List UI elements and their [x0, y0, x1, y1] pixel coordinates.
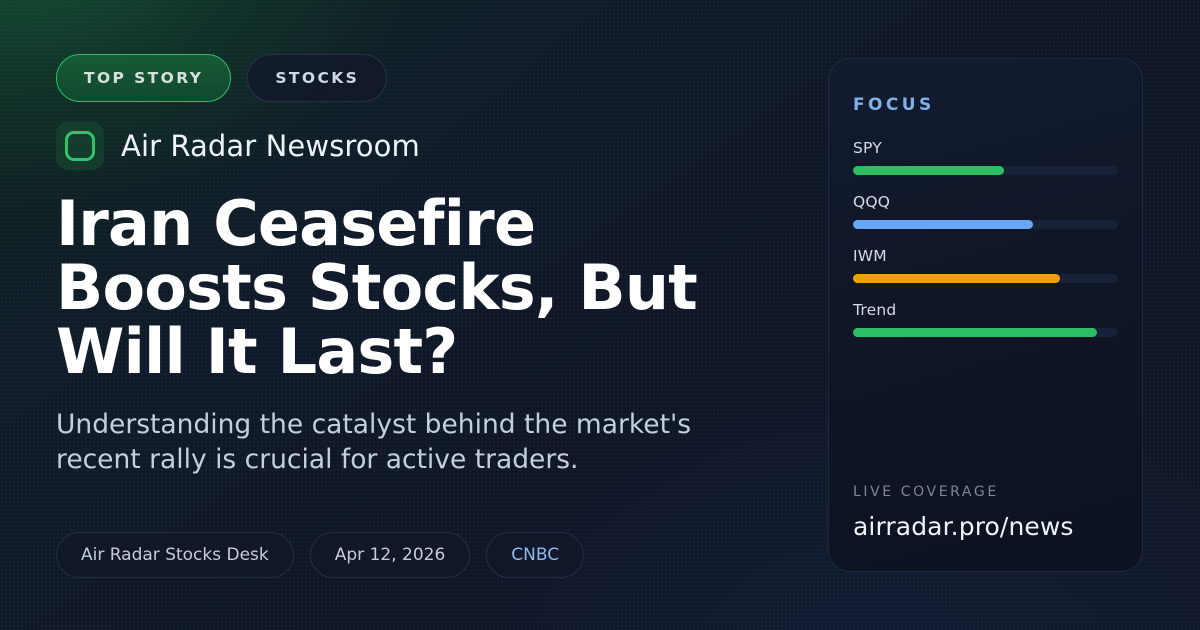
- pill-date[interactable]: Apr 12, 2026: [310, 532, 471, 578]
- brand-name: Air Radar Newsroom: [121, 129, 420, 163]
- metric-bar-track: [853, 166, 1118, 175]
- page-title: Iran Ceasefire Boosts Stocks, But Will I…: [56, 192, 736, 384]
- metric-bar-fill: [853, 166, 1004, 175]
- pill-source-label: CNBC: [511, 545, 559, 565]
- logo-inner-shape: [65, 131, 95, 161]
- footer-pill-row: Air Radar Stocks Desk Apr 12, 2026 CNBC: [56, 532, 584, 578]
- metric-label: SPY: [853, 139, 1118, 157]
- brand-row: Air Radar Newsroom: [56, 122, 776, 170]
- metric-label: QQQ: [853, 193, 1118, 211]
- metric-row: Trend: [853, 301, 1118, 337]
- badge-stocks[interactable]: STOCKS: [247, 54, 387, 102]
- panel-url[interactable]: airradar.pro/news: [853, 512, 1118, 541]
- left-content-column: TOP STORY STOCKS Air Radar Newsroom Iran…: [56, 54, 776, 478]
- metric-bar-track: [853, 328, 1118, 337]
- metric-row: QQQ: [853, 193, 1118, 229]
- metric-bar-track: [853, 274, 1118, 283]
- focus-panel: FOCUS SPY QQQ IWM Tren: [828, 58, 1143, 572]
- metric-bar-fill: [853, 274, 1060, 283]
- rounded-square-outline-icon: [56, 122, 104, 170]
- badge-top-story[interactable]: TOP STORY: [56, 54, 231, 102]
- badge-stocks-label: STOCKS: [275, 69, 359, 87]
- pill-author-label: Air Radar Stocks Desk: [81, 545, 269, 565]
- metric-row: SPY: [853, 139, 1118, 175]
- badge-row: TOP STORY STOCKS: [56, 54, 776, 102]
- metric-bar-fill: [853, 220, 1033, 229]
- pill-date-label: Apr 12, 2026: [335, 545, 446, 565]
- metric-bar-track: [853, 220, 1118, 229]
- social-card-canvas: TOP STORY STOCKS Air Radar Newsroom Iran…: [0, 0, 1200, 630]
- metric-label: Trend: [853, 301, 1118, 319]
- focus-panel-title: FOCUS: [853, 95, 1118, 115]
- badge-top-story-label: TOP STORY: [84, 69, 203, 87]
- panel-footer: LIVE COVERAGE airradar.pro/news: [853, 484, 1118, 541]
- metric-row: IWM: [853, 247, 1118, 283]
- metric-bar-fill: [853, 328, 1097, 337]
- focus-metrics-list: SPY QQQ IWM Trend: [853, 139, 1118, 337]
- live-coverage-label: LIVE COVERAGE: [853, 484, 1118, 500]
- pill-source[interactable]: CNBC: [486, 532, 584, 578]
- pill-author[interactable]: Air Radar Stocks Desk: [56, 532, 294, 578]
- metric-label: IWM: [853, 247, 1118, 265]
- subtitle: Understanding the catalyst behind the ma…: [56, 408, 706, 478]
